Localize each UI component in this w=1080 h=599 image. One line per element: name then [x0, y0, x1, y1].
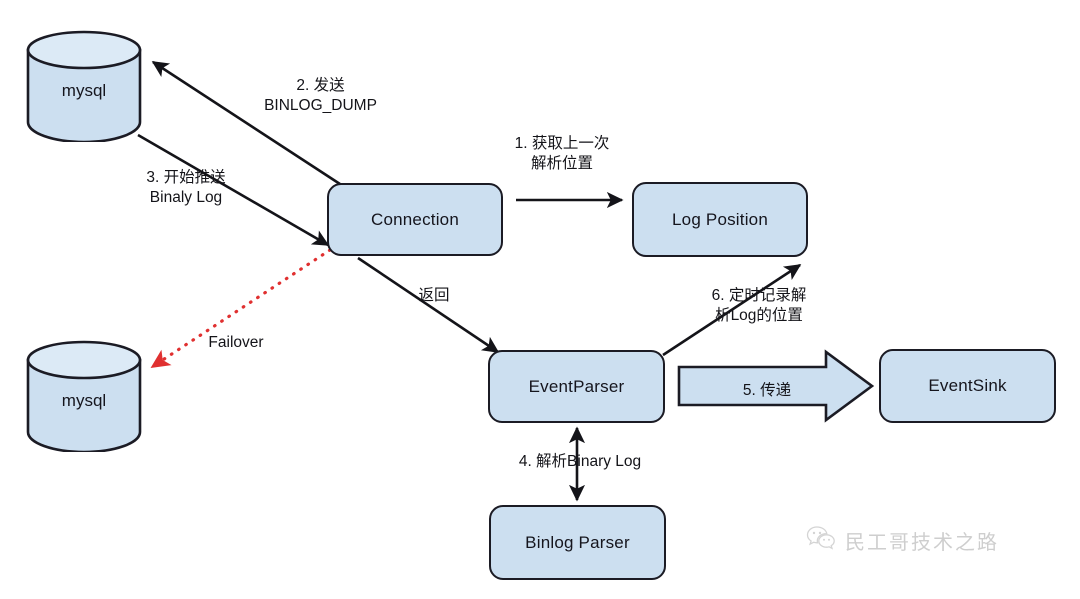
edge-label-1-get-last-parse-position: 1. 获取上一次 解析位置 [482, 134, 642, 175]
wechat-icon [806, 525, 836, 556]
edge-label-2-send-binlog-dump: 2. 发送 BINLOG_DUMP [228, 76, 413, 117]
node-binlog-parser[interactable]: Binlog Parser [489, 505, 666, 580]
node-label: EventSink [928, 376, 1006, 396]
watermark: 民工哥技术之路 [806, 525, 999, 556]
node-label: Log Position [672, 210, 768, 230]
node-event-sink[interactable]: EventSink [879, 349, 1056, 423]
edge-label-4-parse-binary-log: 4. 解析Binary Log [490, 452, 670, 472]
node-label: Connection [371, 210, 459, 230]
node-log-position[interactable]: Log Position [632, 182, 808, 257]
node-mysql-standby[interactable]: mysql [25, 340, 143, 452]
edge-label-5-deliver: 5. 传递 [727, 378, 807, 400]
node-label: mysql [62, 81, 106, 101]
node-label: Binlog Parser [525, 533, 630, 553]
edge-label-6-record-parse-position: 6. 定时记录解 析Log的位置 [684, 286, 834, 327]
node-connection[interactable]: Connection [327, 183, 503, 256]
edge-label-3-start-push: 3. 开始推送 Binaly Log [106, 168, 266, 209]
watermark-text: 民工哥技术之路 [845, 526, 999, 555]
node-mysql-master[interactable]: mysql [25, 30, 143, 142]
edge-label-return: 返回 [404, 286, 464, 306]
diagram-canvas: mysql mysql Connection Log Position Even… [0, 0, 1080, 599]
node-event-parser[interactable]: EventParser [488, 350, 665, 423]
node-label: EventParser [529, 377, 625, 397]
node-label: mysql [62, 391, 106, 411]
edge-label-failover: Failover [191, 333, 281, 353]
